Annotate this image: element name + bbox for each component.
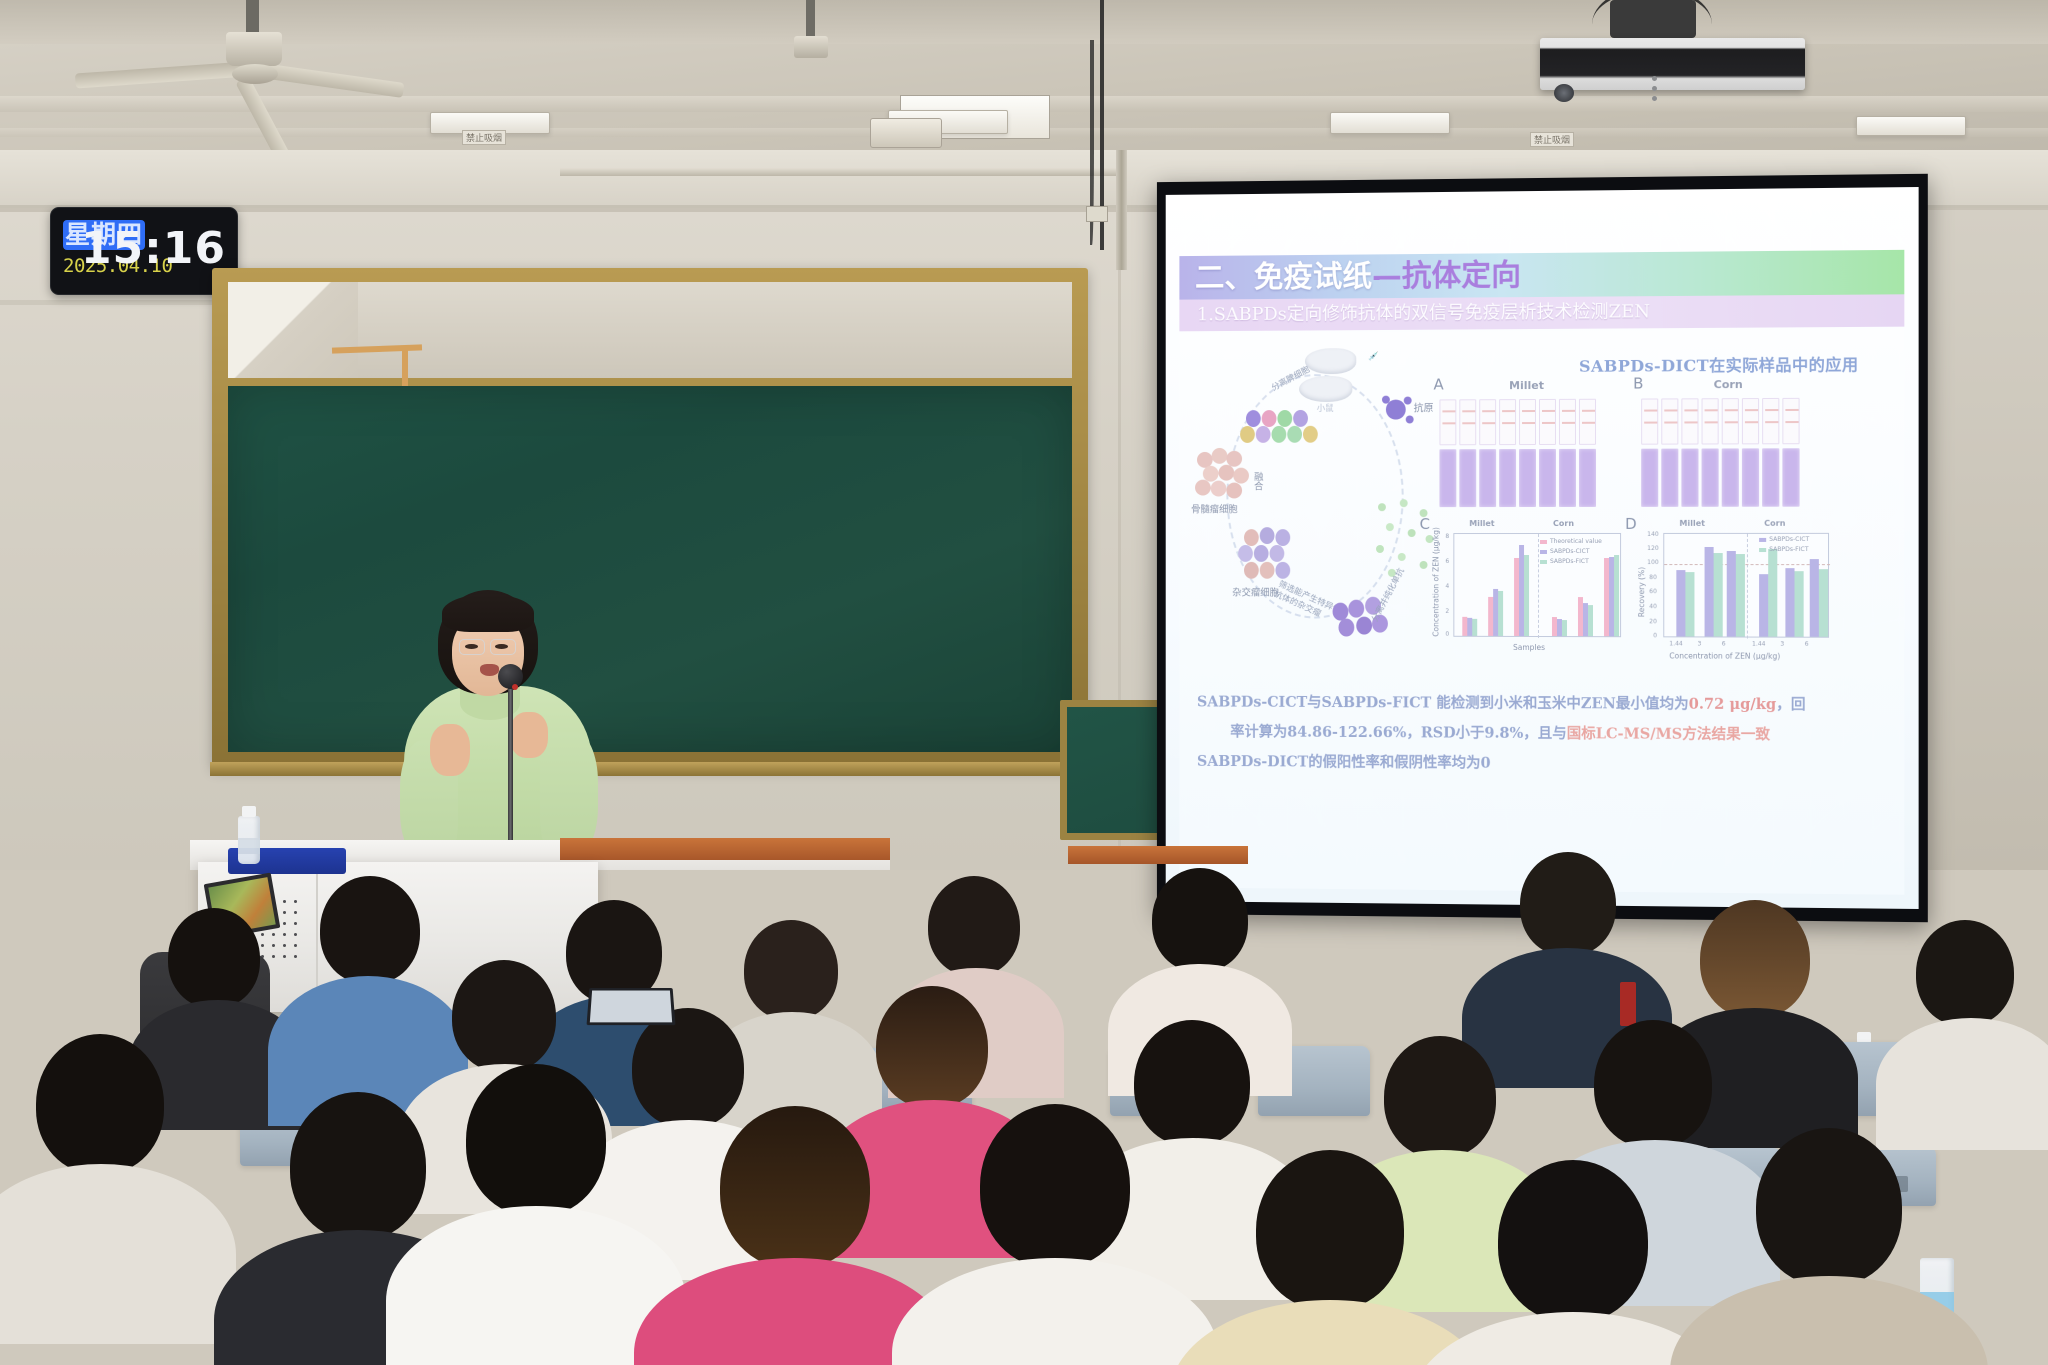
blackboard-chalk-rail xyxy=(210,762,1090,776)
lecture-hall-photo: 禁止吸烟 禁止吸烟 星期四 2025.04.10 15:16 二、免疫试纸—抗体… xyxy=(0,0,2048,1365)
bar-fict xyxy=(1714,553,1723,636)
ceiling-fan-secondary xyxy=(760,0,880,80)
antibody-icon xyxy=(1398,553,1406,561)
bar-cict xyxy=(1727,551,1736,636)
head xyxy=(168,908,260,1008)
head xyxy=(1594,1020,1712,1148)
panel-D-plot-area: SABPDs-CICT SABPDs-FICT xyxy=(1663,533,1829,638)
panel-C-group-corn: Corn xyxy=(1553,519,1574,528)
slide-title-bar: 二、免疫试纸—抗体定向 xyxy=(1179,250,1904,300)
panel-C-group-millet: Millet xyxy=(1469,519,1494,528)
legend-label-fict: SABPDs-FICT xyxy=(1769,546,1808,553)
test-strip xyxy=(1722,448,1739,506)
presentation-slide: 二、免疫试纸—抗体定向 1.SABPDs定向修饰抗体的双信号免疫层析技术检测ZE… xyxy=(1166,187,1919,909)
bottle-label xyxy=(238,838,260,854)
test-strip xyxy=(1559,399,1576,445)
panel-A-strip-tops xyxy=(1439,399,1596,446)
conclusion-line-3: SABPDs-DICT的假阳性率和假阴性率均为0 xyxy=(1197,747,1892,781)
ytick: 4 xyxy=(1445,583,1449,590)
conclusion-seg-highlight: 国标LC-MS/MS方法结果一致 xyxy=(1567,725,1770,743)
conclusion-seg-highlight: 0.72 μg/kg xyxy=(1689,696,1776,713)
cell-icon xyxy=(1212,448,1228,464)
panel-letter-A: A xyxy=(1433,375,1443,393)
legend-label-fict: SABPDs-FICT xyxy=(1550,558,1589,565)
test-strip xyxy=(1722,398,1739,444)
cell-icon xyxy=(1260,562,1275,579)
legend-swatch xyxy=(1540,550,1547,554)
test-strip xyxy=(1641,398,1658,444)
chart-panel-A: A Millet xyxy=(1437,377,1625,510)
slide-title-main: 二、免疫试纸 xyxy=(1195,259,1372,295)
slide-body: SABPDs-DICT在实际样品中的应用 小鼠 xyxy=(1179,329,1904,895)
projector-mount xyxy=(1610,0,1696,38)
panel-D-xlabel: Concentration of ZEN (μg/kg) xyxy=(1669,651,1780,660)
bar-fict xyxy=(1524,555,1529,636)
water-bottle xyxy=(238,816,260,864)
fan-rod xyxy=(246,0,259,34)
head xyxy=(1256,1150,1404,1310)
head xyxy=(1384,1036,1496,1158)
cell-icon xyxy=(1275,529,1290,546)
shoulders xyxy=(1876,1018,2048,1150)
test-strip xyxy=(1681,449,1698,507)
antibody-icon xyxy=(1378,503,1386,511)
test-strip xyxy=(1479,449,1496,507)
xtick: 3 xyxy=(1780,641,1784,648)
cell-icon xyxy=(1270,545,1285,562)
test-strip xyxy=(1702,398,1719,444)
legend-label-cict: SABPDs-CICT xyxy=(1769,536,1809,543)
uniform-badge xyxy=(1620,982,1636,1026)
schematic-label: 小鼠 xyxy=(1317,402,1334,414)
cell-icon xyxy=(1195,480,1211,496)
projector-led xyxy=(1652,86,1657,91)
schematic-label-myeloma: 骨髓瘤细胞 xyxy=(1191,501,1238,515)
panel-D-ylabel: Recovery (%) xyxy=(1637,567,1646,617)
wall-conduit xyxy=(560,168,1120,176)
ytick: 40 xyxy=(1649,603,1657,610)
cell-icon xyxy=(1260,527,1275,544)
test-strip xyxy=(1579,449,1596,507)
panel-A-strip-bottoms xyxy=(1439,449,1596,507)
antigen-icon xyxy=(1404,397,1412,405)
cell-icon xyxy=(1244,529,1259,546)
bar-cict xyxy=(1785,568,1794,637)
ytick: 100 xyxy=(1647,559,1659,566)
test-strip xyxy=(1499,449,1516,507)
slide-title: 二、免疫试纸—抗体定向 xyxy=(1195,257,1521,297)
schematic-label-antigen: 抗原 xyxy=(1414,399,1434,414)
test-strip xyxy=(1661,449,1678,507)
test-strip xyxy=(1499,399,1516,445)
test-strip xyxy=(1439,449,1456,507)
panel-A-title: Millet xyxy=(1509,379,1544,392)
panel-B-strip-tops xyxy=(1641,398,1799,445)
cell-icon xyxy=(1275,562,1290,579)
head xyxy=(1756,1128,1902,1286)
projector-led xyxy=(1652,96,1657,101)
xtick: 1.44 xyxy=(1752,641,1766,648)
microphone-led xyxy=(512,684,518,690)
cell-icon xyxy=(1277,410,1292,427)
test-strip xyxy=(1519,449,1536,507)
head xyxy=(1498,1160,1648,1322)
ytick: 0 xyxy=(1653,632,1657,639)
ytick: 6 xyxy=(1445,558,1449,565)
cell-icon xyxy=(1254,545,1269,562)
blackboard xyxy=(212,268,1088,768)
projector-led xyxy=(1652,76,1657,81)
glasses-icon xyxy=(459,639,485,655)
projector-body xyxy=(1540,38,1805,90)
head xyxy=(876,986,988,1108)
clock-time: 15:16 xyxy=(81,225,226,273)
digital-wall-clock: 星期四 2025.04.10 15:16 xyxy=(50,207,238,295)
test-strip xyxy=(1439,399,1456,445)
ceiling-fan xyxy=(90,0,420,110)
test-strip xyxy=(1539,399,1556,445)
cell-icon xyxy=(1246,410,1261,427)
test-strip xyxy=(1681,398,1698,444)
fluorescent-light xyxy=(1330,112,1450,134)
ytick: 120 xyxy=(1647,545,1659,552)
ytick: 80 xyxy=(1649,574,1657,581)
ytick: 0 xyxy=(1445,631,1449,638)
test-strip xyxy=(1459,399,1476,445)
test-strip xyxy=(1762,448,1779,506)
laptop-screen xyxy=(590,991,672,1023)
antibody-icon xyxy=(1400,499,1408,507)
presenter-left-hand xyxy=(430,724,470,776)
test-strip xyxy=(1519,399,1536,445)
projection-screen-surface: 二、免疫试纸—抗体定向 1.SABPDs定向修饰抗体的双信号免疫层析技术检测ZE… xyxy=(1166,187,1919,909)
head xyxy=(1700,900,1810,1018)
purified-antibody-cloud xyxy=(1374,499,1435,589)
bar-cict xyxy=(1759,574,1768,636)
head xyxy=(980,1104,1130,1268)
head xyxy=(720,1106,870,1268)
head xyxy=(1520,852,1616,956)
head xyxy=(632,1008,744,1128)
panel-D-group-millet: Millet xyxy=(1679,519,1705,528)
panel-C-plot-area: Theoretical value SABPDs-CICT SABPDs-FIC… xyxy=(1453,533,1621,637)
ytick: 140 xyxy=(1647,531,1659,538)
test-strip xyxy=(1459,449,1476,507)
presenter-fringe xyxy=(442,594,534,632)
test-strip xyxy=(1782,398,1799,444)
test-strip xyxy=(1762,398,1779,444)
shoulders xyxy=(0,1164,236,1344)
fan-rod xyxy=(806,0,815,38)
microphone-icon xyxy=(498,664,523,689)
test-strip xyxy=(1479,399,1496,445)
blackboard-upper-shadow xyxy=(228,282,358,378)
bar-cict xyxy=(1810,559,1819,637)
wall-sign-right: 禁止吸烟 xyxy=(1530,132,1574,147)
presenter-right-hand xyxy=(510,712,548,758)
cell-icon xyxy=(1287,426,1302,443)
cell-icon xyxy=(1219,465,1235,481)
fan-motor xyxy=(226,32,282,66)
bar-fict xyxy=(1472,619,1477,636)
slide-subtitle-bar: 1.SABPDs定向修饰抗体的双信号免疫层析技术检测ZEN xyxy=(1179,294,1904,331)
head xyxy=(1134,1020,1250,1146)
head xyxy=(928,876,1020,976)
panel-B-strip-bottoms xyxy=(1641,448,1799,507)
bottle-cap xyxy=(242,806,256,817)
bar-fict xyxy=(1614,555,1619,636)
antigen-icon xyxy=(1406,415,1414,423)
presenter-mouth xyxy=(480,664,499,676)
test-strip xyxy=(1742,448,1759,506)
antigen-icon xyxy=(1386,400,1406,420)
ytick: 60 xyxy=(1649,588,1657,595)
chart-panel-D: D Millet Corn Recovery (%) xyxy=(1633,521,1835,672)
legend-label-cict: SABPDs-CICT xyxy=(1550,548,1589,555)
legend-swatch xyxy=(1759,538,1766,542)
bar-fict xyxy=(1736,554,1745,637)
wall-conduit xyxy=(1116,150,1127,270)
front-desk-wood-edge xyxy=(560,838,890,860)
cell-icon xyxy=(1272,426,1287,443)
bar-fict xyxy=(1819,569,1828,637)
panel-B-title: Corn xyxy=(1714,378,1743,391)
bar-fict xyxy=(1562,620,1567,636)
cell-icon xyxy=(1348,600,1364,618)
bar-fict xyxy=(1795,571,1804,637)
test-strip xyxy=(1782,448,1799,506)
panel-D-reference-line xyxy=(1664,564,1830,565)
panel-C-xlabel: Samples xyxy=(1513,643,1545,652)
projection-screen: 二、免疫试纸—抗体定向 1.SABPDs定向修饰抗体的双信号免疫层析技术检测ZE… xyxy=(1157,174,1928,922)
slide-section-heading: SABPDs-DICT在实际样品中的应用 xyxy=(1579,351,1859,377)
legend-swatch xyxy=(1540,540,1547,544)
conclusion-seg: 率计算为84.86-122.66%，RSD小于9.8%，且与 xyxy=(1230,723,1566,742)
panel-C-ylabel: Concentration of ZEN (μg/kg) xyxy=(1432,527,1441,637)
conclusion-seg: ，回 xyxy=(1776,696,1805,713)
head xyxy=(1916,920,2014,1026)
antibody-icon xyxy=(1408,529,1416,537)
head xyxy=(290,1092,426,1240)
test-strip xyxy=(1702,448,1719,506)
front-desk-wood-edge xyxy=(1068,846,1248,864)
slide-subtitle: 1.SABPDs定向修饰抗体的双信号免疫层析技术检测ZEN xyxy=(1197,299,1650,328)
test-strip xyxy=(1579,399,1596,445)
head xyxy=(466,1064,606,1216)
panel-C-group-divider xyxy=(1538,534,1539,638)
test-strip xyxy=(1661,398,1678,444)
antigen-icon xyxy=(1382,396,1390,404)
wall-sign-left: 禁止吸烟 xyxy=(462,130,506,145)
cable-clip xyxy=(1086,206,1108,222)
cell-icon xyxy=(1240,426,1255,443)
blackboard-surface xyxy=(228,386,1072,752)
antibody-icon xyxy=(1376,545,1384,553)
ceiling-projector xyxy=(1540,10,1805,95)
test-strip xyxy=(1641,449,1658,507)
xtick: 1.44 xyxy=(1669,640,1682,647)
panel-letter-C: C xyxy=(1420,515,1430,533)
syringe-icon: 💉 xyxy=(1368,352,1378,362)
ytick: 20 xyxy=(1649,618,1657,625)
xtick: 6 xyxy=(1805,641,1809,648)
conclusion-line-1: SABPDs-CICT与SABPDs-FICT 能检测到小米和玉米中ZEN最小值… xyxy=(1197,688,1892,721)
blackboard-bracket xyxy=(402,348,408,388)
cell-icon xyxy=(1338,619,1354,637)
head xyxy=(320,876,420,984)
legend-swatch xyxy=(1540,560,1547,564)
conclusion-seg: SABPDs-DICT的假阳性率和假阴性率均为0 xyxy=(1197,753,1491,772)
antibody-production-schematic: 小鼠 抗原 💉 分离脾细胞 xyxy=(1189,340,1435,669)
ytick: 8 xyxy=(1445,533,1449,540)
cell-icon xyxy=(1303,426,1318,443)
bar-cict xyxy=(1705,547,1714,636)
cell-icon xyxy=(1211,481,1227,497)
head xyxy=(452,960,556,1072)
cell-icon xyxy=(1233,468,1249,484)
cell-icon xyxy=(1293,410,1308,427)
glasses-icon xyxy=(490,639,516,655)
test-strip xyxy=(1539,449,1556,507)
bar-fict xyxy=(1685,572,1694,636)
fan-motor xyxy=(794,36,828,58)
mouse-illustration xyxy=(1299,376,1352,402)
cell-icon xyxy=(1226,483,1242,499)
mouse-illustration xyxy=(1305,348,1356,374)
antibody-icon xyxy=(1386,523,1394,531)
speaker-box xyxy=(870,118,942,148)
panel-D-group-divider xyxy=(1747,534,1748,639)
bar-cict xyxy=(1676,570,1685,636)
fan-blade xyxy=(75,62,241,88)
cell-icon xyxy=(1256,426,1271,443)
panel-letter-D: D xyxy=(1625,515,1637,533)
cell-icon xyxy=(1356,617,1372,635)
panel-letter-B: B xyxy=(1633,374,1643,392)
cell-icon xyxy=(1262,410,1277,427)
conclusion-line-2: 率计算为84.86-122.66%，RSD小于9.8%，且与国标LC-MS/MS… xyxy=(1197,717,1892,751)
legend-label-theoretical: Theoretical value xyxy=(1550,538,1602,545)
cell-icon xyxy=(1238,545,1253,562)
conclusion-seg: SABPDs-CICT与SABPDs-FICT 能检测到小米和玉米中ZEN最小值… xyxy=(1197,694,1689,713)
slide-title-accent: —抗体定向 xyxy=(1372,258,1521,294)
bar-fict xyxy=(1768,549,1777,637)
chart-panel-B: B Corn xyxy=(1639,376,1829,509)
head xyxy=(36,1034,164,1174)
antibody-icon xyxy=(1420,561,1428,569)
panel-D-group-corn: Corn xyxy=(1764,519,1785,528)
test-strip xyxy=(1559,449,1576,507)
xtick: 6 xyxy=(1722,640,1726,647)
head xyxy=(1152,868,1248,972)
test-strip xyxy=(1742,398,1759,444)
legend-swatch xyxy=(1759,548,1766,552)
bar-fict xyxy=(1498,591,1503,636)
fluorescent-light xyxy=(1856,116,1966,136)
schematic-label-fusion: 融合 xyxy=(1250,472,1264,491)
cell-icon xyxy=(1244,562,1259,579)
head xyxy=(744,920,838,1020)
audience-laptop xyxy=(587,988,676,1025)
chart-panel-C: C Millet Corn Concentration of ZEN (μg/k… xyxy=(1428,521,1628,671)
projector-lens-icon xyxy=(1554,84,1574,102)
bar-fict xyxy=(1588,605,1593,636)
slide-conclusion-text: SABPDs-CICT与SABPDs-FICT 能检测到小米和玉米中ZEN最小值… xyxy=(1197,688,1892,782)
ytick: 2 xyxy=(1445,608,1449,615)
fan-hub xyxy=(232,64,278,84)
xtick: 3 xyxy=(1697,640,1701,647)
